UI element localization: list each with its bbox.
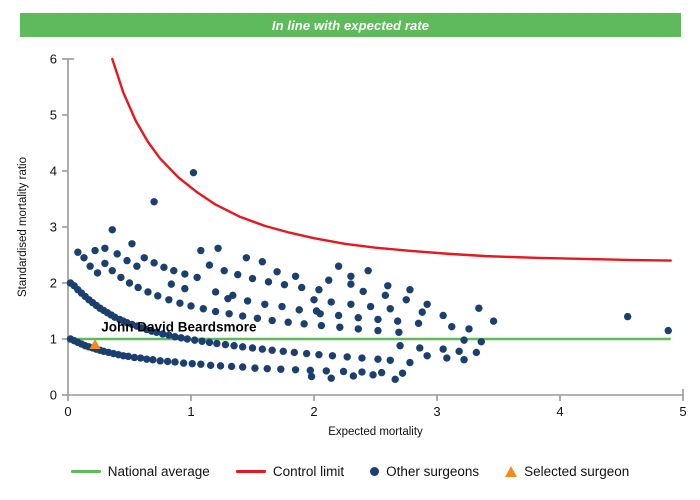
- scatter-point: [473, 349, 480, 356]
- scatter-point: [278, 303, 285, 310]
- scatter-point: [465, 325, 472, 332]
- scatter-point: [439, 312, 446, 319]
- y-tick-label: 2: [50, 276, 57, 291]
- scatter-point: [387, 357, 394, 364]
- scatter-point: [94, 269, 101, 276]
- scatter-point: [114, 250, 121, 257]
- scatter-point: [315, 286, 322, 293]
- scatter-point: [126, 279, 133, 286]
- scatter-point: [328, 298, 335, 305]
- scatter-point: [448, 323, 455, 330]
- scatter-point: [165, 296, 172, 303]
- x-tick-label: 4: [556, 404, 563, 419]
- funnel-plot-chart: John David Beardsmore 0123456012345Expec…: [0, 0, 700, 500]
- scatter-point: [150, 259, 157, 266]
- scatter-point: [415, 320, 422, 327]
- x-tick-label: 5: [679, 404, 686, 419]
- scatter-point: [222, 341, 229, 348]
- scatter-point: [207, 362, 214, 369]
- scatter-point: [134, 284, 141, 291]
- scatter-point: [350, 372, 357, 379]
- scatter-point: [374, 355, 381, 362]
- scatter-point: [355, 325, 362, 332]
- scatter-point: [234, 271, 241, 278]
- scatter-point: [423, 352, 430, 359]
- scatter-point: [181, 285, 188, 292]
- scatter-point: [378, 369, 385, 376]
- scatter-point: [123, 257, 130, 264]
- scatter-point: [374, 327, 381, 334]
- x-tick-label: 1: [187, 404, 194, 419]
- scatter-point: [382, 292, 389, 299]
- scatter-point: [184, 335, 191, 342]
- scatter-point: [347, 301, 354, 308]
- dot-icon: [370, 467, 379, 476]
- scatter-point: [213, 340, 220, 347]
- scatter-point: [387, 305, 394, 312]
- scatter-point: [251, 364, 258, 371]
- scatter-point: [443, 354, 450, 361]
- y-tick-label: 0: [50, 388, 57, 403]
- scatter-point: [344, 353, 351, 360]
- scatter-points: [67, 169, 672, 383]
- line-icon: [71, 470, 101, 473]
- scatter-point: [150, 198, 157, 205]
- scatter-point: [261, 301, 268, 308]
- legend-item-label: Other surgeons: [386, 464, 479, 479]
- scatter-point: [197, 247, 204, 254]
- scatter-point: [624, 313, 631, 320]
- scatter-point: [478, 338, 485, 345]
- scatter-point: [101, 245, 108, 252]
- scatter-point: [384, 282, 391, 289]
- scatter-point: [249, 344, 256, 351]
- scatter-point: [455, 348, 462, 355]
- scatter-point: [268, 317, 275, 324]
- scatter-point: [91, 247, 98, 254]
- scatter-point: [273, 268, 280, 275]
- scatter-point: [281, 281, 288, 288]
- scatter-point: [206, 339, 213, 346]
- scatter-point: [399, 369, 406, 376]
- scatter-point: [243, 254, 250, 261]
- scatter-point: [109, 226, 116, 233]
- scatter-point: [181, 270, 188, 277]
- scatter-point: [224, 295, 231, 302]
- legend-item-other-surgeons: Other surgeons: [370, 464, 479, 479]
- scatter-point: [225, 310, 232, 317]
- scatter-point: [214, 245, 221, 252]
- scatter-point: [228, 363, 235, 370]
- scatter-point: [149, 356, 156, 363]
- scatter-point: [187, 302, 194, 309]
- scatter-point: [460, 356, 467, 363]
- scatter-point: [323, 367, 330, 374]
- scatter-point: [308, 373, 315, 380]
- scatter-point: [74, 249, 81, 256]
- scatter-point: [244, 297, 251, 304]
- legend-item-label: Control limit: [273, 464, 344, 479]
- scatter-point: [391, 376, 398, 383]
- scatter-point: [394, 317, 401, 324]
- scatter-point: [296, 306, 303, 313]
- scatter-point: [168, 280, 175, 287]
- scatter-point: [177, 334, 184, 341]
- scatter-point: [364, 267, 371, 274]
- scatter-point: [423, 301, 430, 308]
- scatter-point: [259, 258, 266, 265]
- scatter-point: [109, 267, 116, 274]
- scatter-point: [171, 358, 178, 365]
- scatter-point: [239, 343, 246, 350]
- scatter-point: [180, 359, 187, 366]
- scatter-point: [303, 350, 310, 357]
- scatter-point: [347, 280, 354, 287]
- scatter-point: [230, 342, 237, 349]
- scatter-point: [347, 273, 354, 280]
- scatter-point: [212, 308, 219, 315]
- scatter-point: [217, 362, 224, 369]
- scatter-point: [137, 354, 144, 361]
- legend-item-selected-surgeon: Selected surgeon: [505, 464, 629, 479]
- scatter-point: [475, 305, 482, 312]
- scatter-point: [360, 288, 367, 295]
- scatter-point: [284, 319, 291, 326]
- scatter-point: [490, 317, 497, 324]
- scatter-point: [292, 273, 299, 280]
- scatter-point: [298, 284, 305, 291]
- scatter-point: [416, 344, 423, 351]
- x-tick-label: 3: [433, 404, 440, 419]
- scatter-point: [117, 274, 124, 281]
- line-icon: [236, 470, 266, 473]
- scatter-point: [141, 254, 148, 261]
- y-tick-label: 1: [50, 332, 57, 347]
- x-axis-title: Expected mortality: [328, 426, 423, 438]
- scatter-point: [239, 363, 246, 370]
- scatter-point: [369, 371, 376, 378]
- scatter-point: [176, 299, 183, 306]
- scatter-point: [212, 288, 219, 295]
- scatter-point: [191, 336, 198, 343]
- scatter-point: [101, 260, 108, 267]
- scatter-point: [374, 316, 381, 323]
- selected-surgeon-annotation: John David Beardsmore: [101, 320, 257, 335]
- scatter-point: [193, 274, 200, 281]
- triangle-icon: [505, 466, 517, 477]
- x-tick-label: 2: [310, 404, 317, 419]
- scatter-point: [198, 338, 205, 345]
- scatter-point: [239, 312, 246, 319]
- scatter-point: [133, 263, 140, 270]
- scatter-point: [249, 275, 256, 282]
- scatter-point: [358, 354, 365, 361]
- scatter-point: [406, 359, 413, 366]
- scatter-point: [329, 352, 336, 359]
- scatter-point: [419, 308, 426, 315]
- scatter-point: [403, 296, 410, 303]
- scatter-point: [395, 329, 402, 336]
- scatter-point: [358, 368, 365, 375]
- scatter-point: [313, 307, 320, 314]
- scatter-point: [197, 361, 204, 368]
- scatter-point: [125, 353, 132, 360]
- scatter-point: [206, 261, 213, 268]
- scatter-point: [460, 336, 467, 343]
- scatter-point: [367, 303, 374, 310]
- scatter-point: [406, 286, 413, 293]
- scatter-point: [328, 375, 335, 382]
- scatter-point: [160, 264, 167, 271]
- scatter-point: [128, 240, 135, 247]
- legend-item-national-average: National average: [71, 464, 210, 479]
- chart-axes: [62, 59, 683, 401]
- scatter-point: [164, 358, 171, 365]
- x-tick-label: 0: [64, 404, 71, 419]
- scatter-point: [318, 322, 325, 329]
- control-limit-path: [112, 59, 670, 261]
- scatter-point: [190, 169, 197, 176]
- annotation-label: John David Beardsmore: [101, 320, 257, 335]
- y-tick-label: 5: [50, 108, 57, 123]
- control-limit-curve: [112, 59, 670, 261]
- y-axis-title: Standardised mortality ratio: [17, 157, 29, 297]
- y-tick-label: 6: [50, 52, 57, 67]
- legend-item-label: Selected surgeon: [524, 464, 629, 479]
- scatter-point: [336, 324, 343, 331]
- scatter-point: [264, 365, 271, 372]
- scatter-point: [189, 360, 196, 367]
- scatter-point: [335, 312, 342, 319]
- scatter-point: [265, 278, 272, 285]
- scatter-point: [259, 345, 266, 352]
- scatter-point: [221, 267, 228, 274]
- scatter-point: [154, 292, 161, 299]
- scatter-point: [277, 366, 284, 373]
- scatter-point: [280, 348, 287, 355]
- scatter-point: [325, 277, 332, 284]
- scatter-point: [307, 367, 314, 374]
- scatter-point: [292, 366, 299, 373]
- scatter-point: [335, 263, 342, 270]
- scatter-point: [291, 349, 298, 356]
- scatter-point: [439, 345, 446, 352]
- scatter-point: [170, 267, 177, 274]
- scatter-point: [80, 254, 87, 261]
- scatter-point: [300, 320, 307, 327]
- scatter-point: [340, 368, 347, 375]
- scatter-point: [310, 296, 317, 303]
- scatter-point: [157, 357, 164, 364]
- scatter-point: [200, 305, 207, 312]
- scatter-point: [396, 342, 403, 349]
- y-tick-label: 4: [50, 164, 57, 179]
- chart-legend: National averageControl limitOther surge…: [0, 458, 700, 484]
- legend-item-control-limit: Control limit: [236, 464, 344, 479]
- legend-item-label: National average: [108, 464, 210, 479]
- y-tick-label: 3: [50, 220, 57, 235]
- scatter-point: [315, 351, 322, 358]
- scatter-point: [355, 314, 362, 321]
- scatter-point: [144, 288, 151, 295]
- scatter-point: [86, 263, 93, 270]
- scatter-point: [665, 327, 672, 334]
- scatter-point: [268, 347, 275, 354]
